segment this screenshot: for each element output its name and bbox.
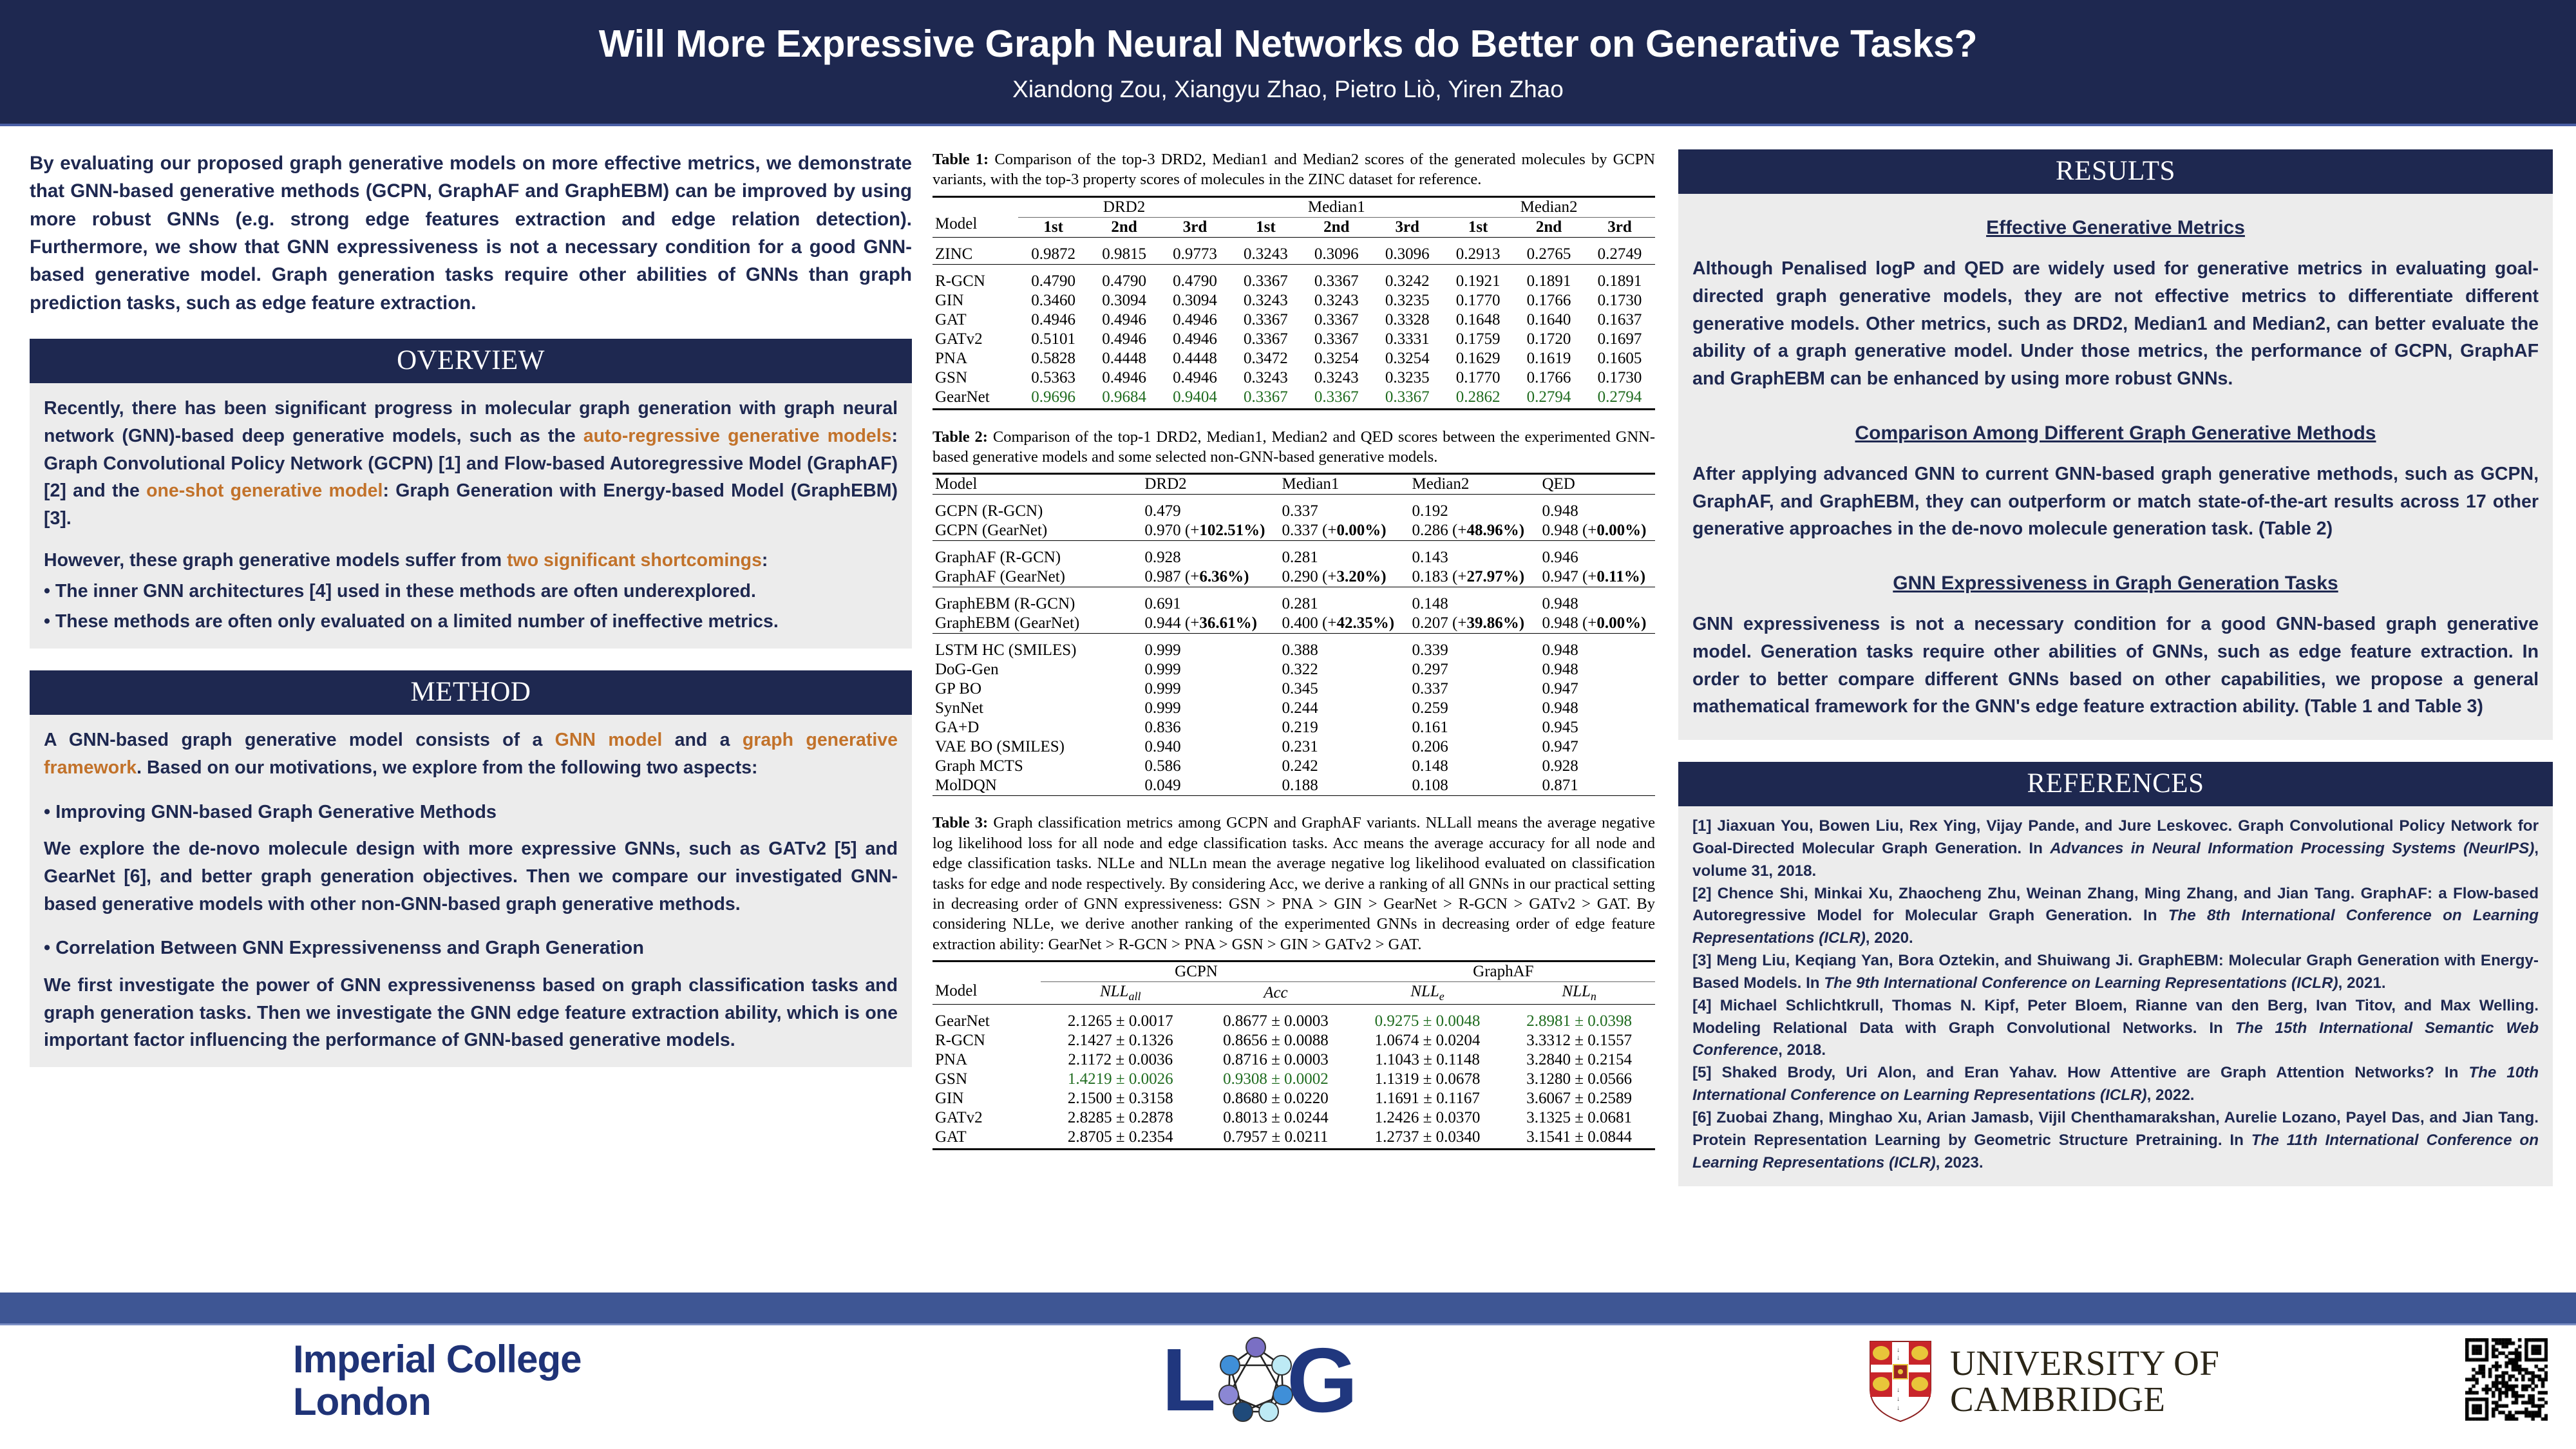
row-model-label: GCPN (GearNet)	[933, 521, 1142, 541]
table-row: GATv20.51010.49460.49460.33670.33670.333…	[933, 330, 1655, 349]
th-nll-e: NLLe	[1352, 981, 1504, 1004]
table-header-row: Model DRD2 Median1 Median2	[933, 196, 1655, 217]
table-row: SynNet0.9990.2440.2590.948	[933, 699, 1655, 718]
cambridge-line-2: CAMBRIDGE	[1950, 1381, 2220, 1417]
table1-body: R-GCN0.47900.47900.47900.33670.33670.324…	[933, 272, 1655, 407]
cell: 0.231	[1280, 737, 1410, 757]
cell: 3.3312 ± 0.1557	[1503, 1031, 1655, 1050]
cell: 0.3096	[1301, 245, 1372, 265]
method-body: A GNN-based graph generative model consi…	[30, 715, 912, 1067]
references-heading: REFERENCES	[1678, 762, 2553, 806]
cell: 0.2794	[1513, 388, 1584, 407]
table1-group-median1: Median1	[1230, 196, 1443, 217]
poster-header: Will More Expressive Graph Neural Networ…	[0, 0, 2576, 126]
cell: 0.946	[1539, 548, 1655, 567]
table3: Model GCPN GraphAF NLLall Acc NLLe NLLn …	[933, 960, 1655, 1147]
row-model-label: GAT	[933, 1128, 1041, 1147]
table1: Model DRD2 Median1 Median2 1st 2nd 3rd 1…	[933, 196, 1655, 407]
log-logo-graphic: L G	[1159, 1333, 1404, 1430]
spacer-row	[933, 495, 1655, 502]
cell: 1.2426 ± 0.0370	[1352, 1108, 1504, 1128]
footer-band	[0, 1293, 2576, 1325]
spacer-row	[933, 634, 1655, 641]
row-model-label: GearNet	[933, 388, 1018, 407]
imperial-line-1: Imperial College	[293, 1338, 581, 1381]
cell: 0.148	[1410, 594, 1540, 614]
cell: 0.3094	[1160, 291, 1231, 310]
intro-text-a: By evaluating our proposed graph generat…	[30, 153, 604, 174]
cambridge-wordmark: UNIVERSITY OF CAMBRIDGE	[1950, 1345, 2220, 1417]
spacer-row	[933, 1004, 1655, 1012]
table-row: R-GCN2.1427 ± 0.13260.8656 ± 0.00881.067…	[933, 1031, 1655, 1050]
row-model-label: R-GCN	[933, 272, 1018, 291]
qr-code[interactable]	[2465, 1338, 2548, 1421]
cell: 0.940	[1142, 737, 1279, 757]
cell: 2.1265 ± 0.0017	[1041, 1012, 1200, 1031]
cell: 0.337	[1410, 679, 1540, 699]
reference-item: [5] Shaked Brody, Uri Alon, and Eran Yah…	[1692, 1062, 2539, 1107]
cell: 0.3243	[1230, 368, 1301, 388]
cell: 0.3367	[1372, 388, 1443, 407]
cell: 0.4946	[1160, 310, 1231, 330]
cell: 0.1619	[1513, 349, 1584, 368]
table-row: GAT0.49460.49460.49460.33670.33670.33280…	[933, 310, 1655, 330]
row-model-label: Graph MCTS	[933, 757, 1142, 776]
cell: 0.3242	[1372, 272, 1443, 291]
row-model-label: GSN	[933, 1070, 1041, 1089]
table-row: GIN0.34600.30940.30940.32430.32430.32350…	[933, 291, 1655, 310]
row-model-label: GIN	[933, 1089, 1041, 1108]
cell: 0.945	[1539, 718, 1655, 737]
cell: 0.8677 ± 0.0003	[1200, 1012, 1352, 1031]
cell: 0.183 (+27.97%)	[1410, 567, 1540, 587]
author-list: Xiandong Zou, Xiangyu Zhao, Pietro Liò, …	[0, 76, 2576, 103]
cell: 0.1648	[1443, 310, 1513, 330]
cell: 0.3243	[1230, 245, 1301, 265]
cell: 0.1605	[1584, 349, 1655, 368]
table-row: MolDQN0.0490.1880.1080.871	[933, 776, 1655, 796]
reference-item: [2] Chence Shi, Minkai Xu, Zhaocheng Zhu…	[1692, 883, 2539, 951]
table-row: GCPN (GearNet)0.970 (+102.51%)0.337 (+0.…	[933, 521, 1655, 541]
cell: 0.1766	[1513, 291, 1584, 310]
table1-block: Table 1: Comparison of the top-3 DRD2, M…	[933, 149, 1655, 410]
overview-section: OVERVIEW Recently, there has been signif…	[30, 339, 912, 649]
spacer-row	[933, 587, 1655, 595]
cell: 0.3367	[1230, 310, 1301, 330]
cell: 0.4448	[1089, 349, 1160, 368]
method-paragraph-2: We explore the de-novo molecule design w…	[44, 835, 898, 918]
cell: 0.948	[1539, 594, 1655, 614]
references-body: [1] Jiaxuan You, Bowen Liu, Rex Ying, Vi…	[1678, 806, 2553, 1186]
table3-model-header: Model	[933, 961, 1041, 1004]
cell: 0.987 (+6.36%)	[1142, 567, 1279, 587]
cell: 0.947	[1539, 679, 1655, 699]
table-row: GraphEBM (GearNet)0.944 (+36.61%)0.400 (…	[933, 614, 1655, 634]
cell: 0.4946	[1089, 310, 1160, 330]
cell: 0.2913	[1443, 245, 1513, 265]
cell: 0.3235	[1372, 368, 1443, 388]
cell: 0.9815	[1089, 245, 1160, 265]
cell: 0.9308 ± 0.0002	[1200, 1070, 1352, 1089]
row-model-label: GP BO	[933, 679, 1142, 699]
cell: 3.2840 ± 0.2154	[1503, 1050, 1655, 1070]
cell: 0.3367	[1230, 272, 1301, 291]
cell: 0.207 (+39.86%)	[1410, 614, 1540, 634]
me-text-a: A GNN-based graph generative model consi…	[44, 730, 555, 750]
table-row: GP BO0.9990.3450.3370.947	[933, 679, 1655, 699]
th-acc: Acc	[1200, 981, 1352, 1004]
table-row: GearNet2.1265 ± 0.00170.8677 ± 0.00030.9…	[933, 1012, 1655, 1031]
cell: 1.4219 ± 0.0026	[1041, 1070, 1200, 1089]
cell: 0.3472	[1230, 349, 1301, 368]
th: Median2	[1410, 474, 1540, 495]
cell: 0.8716 ± 0.0003	[1200, 1050, 1352, 1070]
me-text-b: and a	[662, 730, 743, 750]
row-model-label: LSTM HC (SMILES)	[933, 641, 1142, 660]
cell: 0.9275 ± 0.0048	[1352, 1012, 1504, 1031]
cell: 0.944 (+36.61%)	[1142, 614, 1279, 634]
intro-bold-robust-gnns: robust GNNs	[92, 209, 220, 230]
spacer-row	[933, 264, 1655, 272]
cell: 0.1770	[1443, 368, 1513, 388]
cell: 0.188	[1280, 776, 1410, 796]
table-row: GAT2.8705 ± 0.23540.7957 ± 0.02111.2737 …	[933, 1128, 1655, 1147]
table-row: GA+D0.8360.2190.1610.945	[933, 718, 1655, 737]
table3-caption: Table 3: Graph classification metrics am…	[933, 813, 1655, 954]
th: 3rd	[1160, 217, 1231, 237]
spacer-row	[933, 541, 1655, 549]
table-row: ZINC 0.9872 0.9815 0.9773 0.3243 0.3096 …	[933, 245, 1655, 265]
cell: 0.948 (+0.00%)	[1539, 521, 1655, 541]
th: 1st	[1018, 217, 1089, 237]
imperial-line-2: London	[293, 1381, 581, 1423]
ov-text-d: However, these graph generative models s…	[44, 550, 507, 571]
cell: 0.3243	[1301, 291, 1372, 310]
cell: 0.3367	[1301, 330, 1372, 349]
table-header-row: Model DRD2 Median1 Median2 QED	[933, 474, 1655, 495]
row-model-label: SynNet	[933, 699, 1142, 718]
cell: 0.5101	[1018, 330, 1089, 349]
cell: 0.3094	[1089, 291, 1160, 310]
th: QED	[1539, 474, 1655, 495]
imperial-college-logo: Imperial College London	[293, 1338, 581, 1423]
left-column: By evaluating our proposed graph generat…	[30, 149, 912, 1067]
ov-highlight-oneshot: one-shot generative model	[146, 480, 383, 501]
overview-paragraph-2: However, these graph generative models s…	[44, 547, 898, 574]
cell: 0.3243	[1230, 291, 1301, 310]
cell: 1.0674 ± 0.0204	[1352, 1031, 1504, 1050]
cell: 0.108	[1410, 776, 1540, 796]
cell: 0.297	[1410, 660, 1540, 679]
row-model-label: GA+D	[933, 718, 1142, 737]
cell: 0.281	[1280, 594, 1410, 614]
cell: 0.4946	[1160, 330, 1231, 349]
table-row: GATv22.8285 ± 0.28780.8013 ± 0.02441.242…	[933, 1108, 1655, 1128]
reference-item: [6] Zuobai Zhang, Minghao Xu, Arian Jama…	[1692, 1107, 2539, 1175]
cell: 0.970 (+102.51%)	[1142, 521, 1279, 541]
th: 2nd	[1301, 217, 1372, 237]
overview-heading: OVERVIEW	[30, 339, 912, 383]
cell: 0.948	[1539, 699, 1655, 718]
reference-item: [1] Jiaxuan You, Bowen Liu, Rex Ying, Vi…	[1692, 815, 2539, 883]
log-conference-logo: L G	[1159, 1333, 1404, 1430]
cell: 0.206	[1410, 737, 1540, 757]
cell: 0.3367	[1301, 388, 1372, 407]
table-header-row: Model GCPN GraphAF	[933, 961, 1655, 981]
cell: 0.2765	[1513, 245, 1584, 265]
cell: 0.400 (+42.35%)	[1280, 614, 1410, 634]
table2-caption-text: Comparison of the top-1 DRD2, Median1, M…	[933, 428, 1655, 466]
cell: 0.948	[1539, 502, 1655, 521]
table-row: Graph MCTS0.5860.2420.1480.928	[933, 757, 1655, 776]
th-nll-n: NLLn	[1503, 981, 1655, 1004]
cell: 1.1043 ± 0.1148	[1352, 1050, 1504, 1070]
cell: 0.322	[1280, 660, 1410, 679]
cell: 0.9872	[1018, 245, 1089, 265]
cell: 0.999	[1142, 679, 1279, 699]
results-section: RESULTS Effective Generative Metrics Alt…	[1678, 149, 2553, 740]
table-row: GraphAF (R-GCN)0.9280.2810.1430.946	[933, 548, 1655, 567]
cell: 0.4790	[1160, 272, 1231, 291]
results-heading: RESULTS	[1678, 149, 2553, 194]
cell: 0.3367	[1301, 310, 1372, 330]
cell: 0.143	[1410, 548, 1540, 567]
th: 1st	[1443, 217, 1513, 237]
th: 3rd	[1372, 217, 1443, 237]
cell: 0.4790	[1018, 272, 1089, 291]
table-row: GSN1.4219 ± 0.00260.9308 ± 0.00021.1319 …	[933, 1070, 1655, 1089]
table3-group-gcpn: GCPN	[1041, 961, 1351, 981]
table3-caption-label: Table 3:	[933, 814, 988, 831]
results-paragraph-2: After applying advanced GNN to current G…	[1692, 460, 2539, 543]
cell: 0.4448	[1160, 349, 1231, 368]
table1-group-drd2: DRD2	[1018, 196, 1231, 217]
cell: 0.161	[1410, 718, 1540, 737]
cell: 0.286 (+48.96%)	[1410, 521, 1540, 541]
table-row: GCPN (R-GCN)0.4790.3370.1920.948	[933, 502, 1655, 521]
cell: 3.1280 ± 0.0566	[1503, 1070, 1655, 1089]
table2-caption: Table 2: Comparison of the top-1 DRD2, M…	[933, 427, 1655, 468]
table-row: R-GCN0.47900.47900.47900.33670.33670.324…	[933, 272, 1655, 291]
cell: 0.3328	[1372, 310, 1443, 330]
cell: 0.947	[1539, 737, 1655, 757]
table-row: GearNet0.96960.96840.94040.33670.33670.3…	[933, 388, 1655, 407]
cell: 0.3367	[1230, 330, 1301, 349]
cell: 0.2794	[1584, 388, 1655, 407]
cell: 0.5363	[1018, 368, 1089, 388]
spacer-row	[933, 237, 1655, 245]
svg-text:↓: ↓	[1897, 1396, 1900, 1403]
results-subheading-3: GNN Expressiveness in Graph Generation T…	[1692, 569, 2539, 598]
cell: 3.1325 ± 0.0681	[1503, 1108, 1655, 1128]
cell: 0.049	[1142, 776, 1279, 796]
cell: 0.1921	[1443, 272, 1513, 291]
cell: 0.1730	[1584, 368, 1655, 388]
cell: 0.871	[1539, 776, 1655, 796]
cell: 0.947 (+0.11%)	[1539, 567, 1655, 587]
cell: 0.586	[1142, 757, 1279, 776]
row-model-label: GearNet	[933, 1012, 1041, 1031]
row-model-label: GATv2	[933, 1108, 1041, 1128]
th: Median1	[1280, 474, 1410, 495]
results-paragraph-1: Although Penalised logP and QED are wide…	[1692, 255, 2539, 393]
cell: 2.8705 ± 0.2354	[1041, 1128, 1200, 1147]
table-row: VAE BO (SMILES)0.9400.2310.2060.947	[933, 737, 1655, 757]
cell: 0.5828	[1018, 349, 1089, 368]
cell: 0.999	[1142, 699, 1279, 718]
th: 2nd	[1513, 217, 1584, 237]
me-highlight-gnn-model: GNN model	[555, 730, 663, 750]
table-subheader-row: 1st 2nd 3rd 1st 2nd 3rd 1st 2nd 3rd	[933, 217, 1655, 237]
cell: 0.3367	[1230, 388, 1301, 407]
list-item: • These methods are often only evaluated…	[44, 608, 898, 636]
cell: 0.244	[1280, 699, 1410, 718]
cell: 0.1720	[1513, 330, 1584, 349]
cell: 0.3367	[1301, 272, 1372, 291]
cell: 0.4790	[1089, 272, 1160, 291]
row-model-label: GSN	[933, 368, 1018, 388]
cell: 0.691	[1142, 594, 1279, 614]
method-subheading-1: • Improving GNN-based Graph Generative M…	[44, 799, 898, 827]
table3-group-graphaf: GraphAF	[1352, 961, 1655, 981]
cell: 0.8013 ± 0.0244	[1200, 1108, 1352, 1128]
ov-text-e: :	[762, 550, 768, 571]
cell: 0.9404	[1160, 388, 1231, 407]
cell: 0.3254	[1301, 349, 1372, 368]
row-model-label: GraphAF (GearNet)	[933, 567, 1142, 587]
table-row: LSTM HC (SMILES)0.9990.3880.3390.948	[933, 641, 1655, 660]
cell: 0.8680 ± 0.0220	[1200, 1089, 1352, 1108]
table2-block: Table 2: Comparison of the top-1 DRD2, M…	[933, 427, 1655, 797]
svg-text:↓: ↓	[1897, 1405, 1900, 1412]
cell: 0.339	[1410, 641, 1540, 660]
cell: 0.4946	[1089, 368, 1160, 388]
table-row: GSN0.53630.49460.49460.32430.32430.32350…	[933, 368, 1655, 388]
table1-caption-text: Comparison of the top-3 DRD2, Median1 an…	[933, 151, 1655, 188]
cambridge-crest-icon: ↓↓ ↓↓↓	[1868, 1339, 1933, 1424]
cell: 0.259	[1410, 699, 1540, 718]
middle-column: Table 1: Comparison of the top-3 DRD2, M…	[933, 149, 1655, 1166]
right-column: RESULTS Effective Generative Metrics Alt…	[1678, 149, 2553, 1186]
svg-text:↓: ↓	[1897, 1347, 1900, 1354]
table-row: PNA2.1172 ± 0.00360.8716 ± 0.00031.1043 …	[933, 1050, 1655, 1070]
cell: 0.999	[1142, 660, 1279, 679]
th: 1st	[1230, 217, 1301, 237]
row-model-label: GraphEBM (R-GCN)	[933, 594, 1142, 614]
table3-body: GearNet2.1265 ± 0.00170.8677 ± 0.00030.9…	[933, 1012, 1655, 1147]
references-section: REFERENCES [1] Jiaxuan You, Bowen Liu, R…	[1678, 762, 2553, 1186]
cell: 0.999	[1142, 641, 1279, 660]
cell: 0.1766	[1513, 368, 1584, 388]
cell: 0.3235	[1372, 291, 1443, 310]
intro-bold-effective-metrics: effective metrics	[604, 153, 755, 174]
cell: 0.219	[1280, 718, 1410, 737]
method-heading: METHOD	[30, 670, 912, 715]
cell: 0.290 (+3.20%)	[1280, 567, 1410, 587]
overview-body: Recently, there has been significant pro…	[30, 383, 912, 649]
row-model-label: R-GCN	[933, 1031, 1041, 1050]
method-paragraph-3: We first investigate the power of GNN ex…	[44, 972, 898, 1054]
cell: 0.928	[1539, 757, 1655, 776]
cell: 0.3243	[1301, 368, 1372, 388]
cell: 0.281	[1280, 548, 1410, 567]
cell: 0.337 (+0.00%)	[1280, 521, 1410, 541]
cell: 3.1541 ± 0.0844	[1503, 1128, 1655, 1147]
cell: 0.4946	[1089, 330, 1160, 349]
cell: 0.948	[1539, 641, 1655, 660]
cell: 0.9696	[1018, 388, 1089, 407]
cell: 0.2862	[1443, 388, 1513, 407]
overview-bullet-list: • The inner GNN architectures [4] used i…	[44, 578, 898, 636]
cell: 0.836	[1142, 718, 1279, 737]
cell: 0.3460	[1018, 291, 1089, 310]
th: 2nd	[1089, 217, 1160, 237]
cell: 0.1637	[1584, 310, 1655, 330]
poster-root: Will More Expressive Graph Neural Networ…	[0, 0, 2576, 1449]
cell: 1.1319 ± 0.0678	[1352, 1070, 1504, 1089]
row-model-label: GraphEBM (GearNet)	[933, 614, 1142, 634]
cell: 2.1427 ± 0.1326	[1041, 1031, 1200, 1050]
table1-group-median2: Median2	[1443, 196, 1655, 217]
cell: 2.8981 ± 0.0398	[1503, 1012, 1655, 1031]
reference-item: [4] Michael Schlichtkrull, Thomas N. Kip…	[1692, 995, 2539, 1063]
th-nll-all: NLLall	[1041, 981, 1200, 1004]
table-row: GraphAF (GearNet)0.987 (+6.36%)0.290 (+3…	[933, 567, 1655, 587]
cell: 0.3254	[1372, 349, 1443, 368]
cell: 0.3096	[1372, 245, 1443, 265]
cell: 0.1629	[1443, 349, 1513, 368]
table-row: DoG-Gen0.9990.3220.2970.948	[933, 660, 1655, 679]
table-subheader-row: NLLall Acc NLLe NLLn	[933, 981, 1655, 1004]
cell: 0.148	[1410, 757, 1540, 776]
cell: 0.1759	[1443, 330, 1513, 349]
cell: 0.1891	[1584, 272, 1655, 291]
row-model-label: PNA	[933, 1050, 1041, 1070]
cell: 0.479	[1142, 502, 1279, 521]
th: 3rd	[1584, 217, 1655, 237]
method-paragraph-1: A GNN-based graph generative model consi…	[44, 726, 898, 782]
cell: 0.928	[1142, 548, 1279, 567]
table2-body: GCPN (R-GCN)0.4790.3370.1920.948GCPN (Ge…	[933, 495, 1655, 796]
cell: 1.2737 ± 0.0340	[1352, 1128, 1504, 1147]
cell: 2.1172 ± 0.0036	[1041, 1050, 1200, 1070]
row-model-label: MolDQN	[933, 776, 1142, 796]
table2-caption-label: Table 2:	[933, 428, 988, 446]
table3-block: Table 3: Graph classification metrics am…	[933, 813, 1655, 1150]
cell: 0.7957 ± 0.0211	[1200, 1128, 1352, 1147]
cambridge-line-1: UNIVERSITY OF	[1950, 1345, 2220, 1381]
cambridge-logo: ↓↓ ↓↓↓ UNIVERSITY OF CAMBRIDGE	[1868, 1333, 2220, 1430]
row-model-label: GCPN (R-GCN)	[933, 502, 1142, 521]
cell: 0.2749	[1584, 245, 1655, 265]
cell: 0.192	[1410, 502, 1540, 521]
table-row: GraphEBM (R-GCN)0.6910.2810.1480.948	[933, 594, 1655, 614]
ov-highlight-shortcomings: two significant shortcomings	[507, 550, 762, 571]
ov-highlight-autoregressive: auto-regressive generative models	[583, 426, 892, 446]
cell: 0.948	[1539, 660, 1655, 679]
cell: 0.4946	[1018, 310, 1089, 330]
cell: 0.1891	[1513, 272, 1584, 291]
table-row: GIN2.1500 ± 0.31580.8680 ± 0.02201.1691 …	[933, 1089, 1655, 1108]
cell: 0.345	[1280, 679, 1410, 699]
row-model-label: GAT	[933, 310, 1018, 330]
cell: 0.337	[1280, 502, 1410, 521]
reference-item: [3] Meng Liu, Keqiang Yan, Bora Oztekin,…	[1692, 950, 2539, 995]
results-subheading-1: Effective Generative Metrics	[1692, 213, 2539, 242]
table3-caption-text: Graph classification metrics among GCPN …	[933, 814, 1655, 952]
row-model-label: DoG-Gen	[933, 660, 1142, 679]
row-model-label: GraphAF (R-GCN)	[933, 548, 1142, 567]
